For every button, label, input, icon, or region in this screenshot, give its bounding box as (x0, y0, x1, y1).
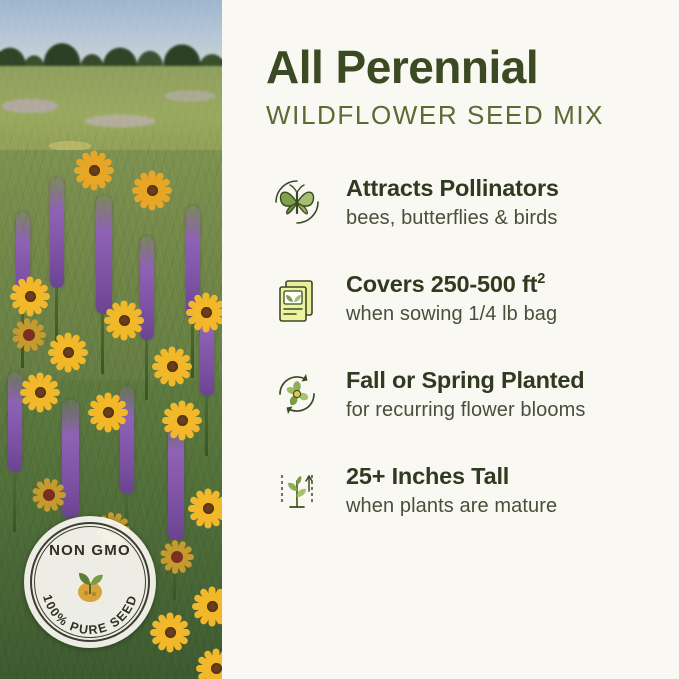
feature-subtext: bees, butterflies & birds (346, 207, 559, 230)
yellow-daisy (20, 372, 60, 412)
yellow-daisy (188, 488, 222, 528)
yellow-daisy (162, 400, 202, 440)
feature-item-pollinators: Attracts Pollinators bees, butterflies &… (266, 171, 645, 233)
plant-height-icon (266, 459, 328, 521)
feature-item-coverage: Covers 250-500 ft2 when sowing 1/4 lb ba… (266, 267, 645, 329)
feature-heading: Covers 250-500 ft2 (346, 271, 557, 298)
coneflower (160, 540, 194, 574)
yellow-daisy (192, 586, 222, 626)
coneflower (32, 478, 66, 512)
feature-list: Attracts Pollinators bees, butterflies &… (266, 171, 645, 521)
info-panel: All Perennial WILDFLOWER SEED MIX (222, 0, 679, 679)
yellow-daisy (104, 300, 144, 340)
yellow-daisy (10, 276, 50, 316)
yellow-daisy (132, 170, 172, 210)
svg-text:100% PURE SEED: 100% PURE SEED (40, 593, 140, 638)
product-subtitle: WILDFLOWER SEED MIX (266, 100, 645, 131)
feature-subtext: when plants are mature (346, 495, 557, 518)
yellow-daisy (88, 392, 128, 432)
feature-heading: Fall or Spring Planted (346, 367, 585, 394)
seal-arc-text: 100% PURE SEED (24, 516, 156, 648)
flower-cycle-icon (266, 363, 328, 425)
feature-heading: Attracts Pollinators (346, 175, 559, 202)
butterfly-icon (266, 171, 328, 233)
seed-packet-panel: NON GMO 100% PURE SEED (0, 0, 679, 679)
feature-heading-superscript: 2 (537, 272, 545, 288)
purple-spire-flower (96, 196, 112, 314)
wildflower-meadow-photo: NON GMO 100% PURE SEED (0, 0, 222, 679)
yellow-daisy (48, 332, 88, 372)
non-gmo-seal: NON GMO 100% PURE SEED (24, 516, 156, 648)
yellow-daisy (74, 150, 114, 190)
feature-item-planting-season: Fall or Spring Planted for recurring flo… (266, 363, 645, 425)
coneflower (12, 318, 46, 352)
seed-packet-icon (266, 267, 328, 329)
feature-heading: 25+ Inches Tall (346, 463, 557, 490)
feature-subtext: for recurring flower blooms (346, 399, 585, 422)
yellow-daisy (152, 346, 192, 386)
yellow-daisy (196, 648, 222, 679)
feature-heading-text: Covers 250-500 ft (346, 271, 537, 297)
yellow-daisy (150, 612, 190, 652)
seal-arc-label: 100% PURE SEED (40, 593, 140, 638)
product-title: All Perennial (266, 44, 645, 91)
feature-subtext: when sowing 1/4 lb bag (346, 303, 557, 326)
yellow-daisy (186, 292, 222, 332)
purple-spire-flower (50, 178, 64, 288)
feature-item-height: 25+ Inches Tall when plants are mature (266, 459, 645, 521)
depth-blur (0, 0, 222, 130)
